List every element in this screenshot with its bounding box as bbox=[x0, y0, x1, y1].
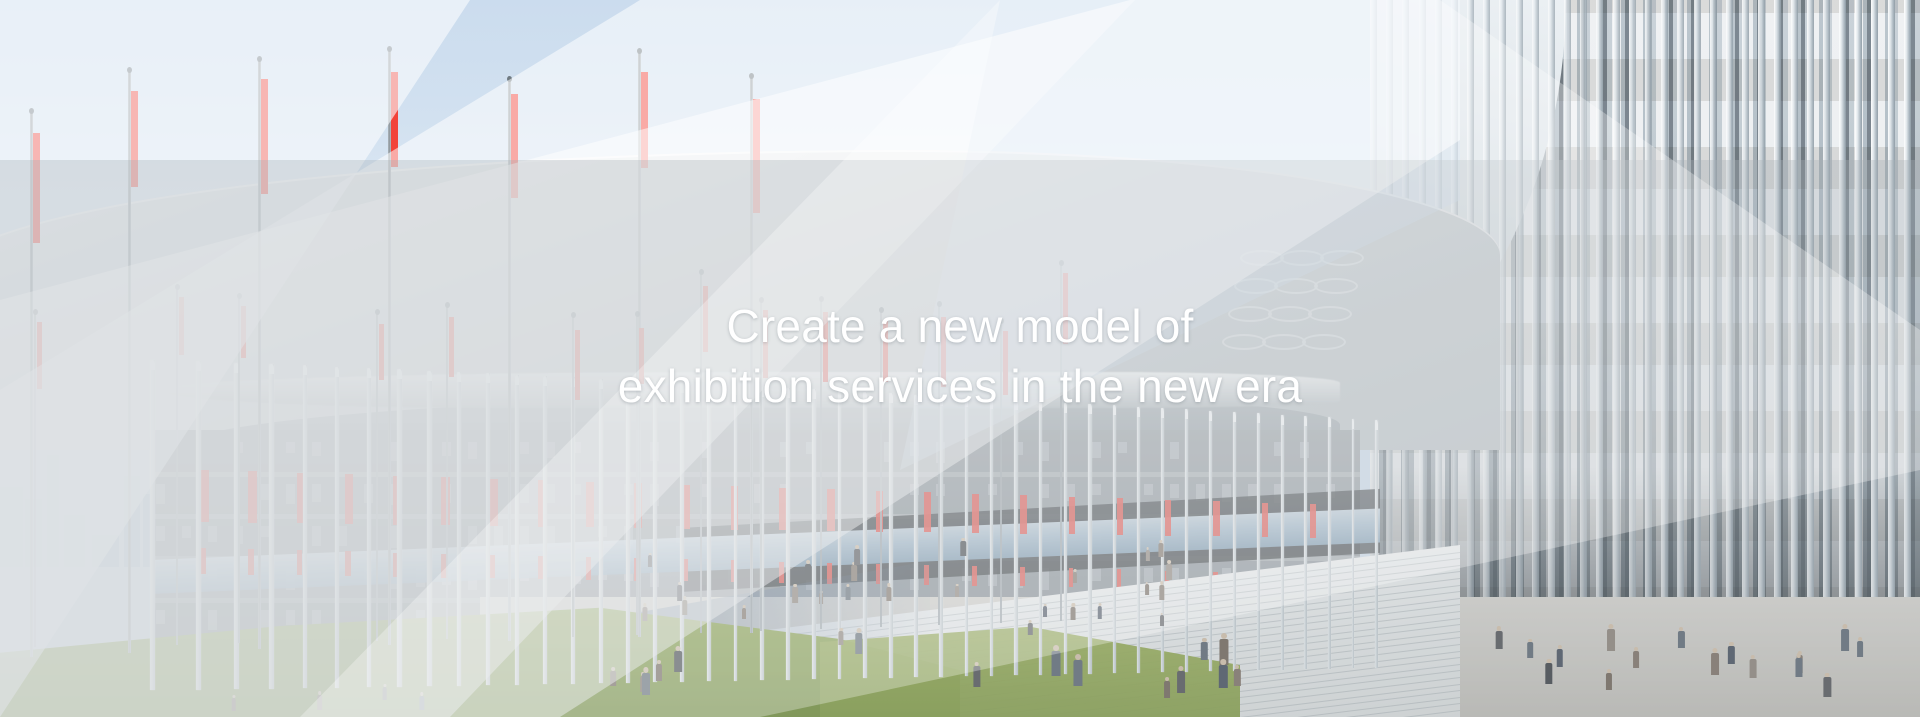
visitor bbox=[1073, 654, 1083, 685]
visitor bbox=[1795, 653, 1803, 677]
facade-window bbox=[1092, 484, 1101, 495]
facade-fin bbox=[1375, 420, 1378, 668]
visitor-body bbox=[852, 565, 858, 581]
facade-window bbox=[312, 442, 321, 456]
canopy-oval bbox=[1320, 250, 1364, 266]
flagpole-finial bbox=[637, 48, 642, 54]
visitor-body bbox=[682, 600, 687, 615]
visitor-body bbox=[1160, 615, 1164, 626]
facade-window bbox=[156, 610, 165, 624]
visitor bbox=[1711, 648, 1720, 675]
red-banner bbox=[972, 494, 979, 533]
visitor bbox=[1527, 639, 1533, 658]
visitor-body bbox=[1201, 642, 1207, 660]
visitor-body bbox=[1795, 658, 1802, 678]
facade-fin bbox=[1014, 400, 1017, 675]
facade-window bbox=[156, 526, 165, 541]
visitor bbox=[1160, 613, 1164, 627]
facade-window bbox=[208, 526, 217, 542]
facade-fin bbox=[515, 375, 519, 685]
canopy-oval bbox=[1274, 278, 1318, 294]
facade-window bbox=[520, 484, 529, 503]
visitor bbox=[886, 583, 892, 601]
facade-window bbox=[286, 610, 295, 625]
canopy-oval bbox=[1234, 278, 1278, 294]
skyline-building bbox=[92, 535, 119, 567]
visitor bbox=[1857, 637, 1863, 657]
visitor-body bbox=[656, 664, 662, 681]
visitor bbox=[1841, 624, 1850, 651]
visitor bbox=[1633, 647, 1639, 667]
flagpole-finial bbox=[699, 269, 704, 275]
visitor-body bbox=[1219, 665, 1227, 688]
facade-fin bbox=[1257, 413, 1260, 670]
visitor bbox=[855, 628, 863, 654]
visitor-body bbox=[1159, 585, 1164, 600]
visitor bbox=[973, 662, 981, 687]
facade-fin bbox=[427, 371, 431, 686]
visitor bbox=[854, 545, 860, 565]
visitor-body bbox=[839, 631, 844, 645]
skyline-building bbox=[64, 515, 85, 567]
facade-fin bbox=[486, 373, 490, 685]
visitor-body bbox=[419, 696, 424, 711]
visitor bbox=[1728, 642, 1735, 664]
visitor bbox=[1164, 677, 1170, 697]
visitor bbox=[1051, 645, 1061, 676]
visitor-body bbox=[973, 666, 980, 686]
visitor bbox=[846, 584, 851, 601]
canopy-oval bbox=[1314, 278, 1358, 294]
visitor-body bbox=[1749, 659, 1756, 678]
facade-fin bbox=[812, 389, 816, 679]
red-banner bbox=[1020, 495, 1027, 534]
flagpole-finial bbox=[29, 108, 34, 114]
flagpole-finial bbox=[387, 46, 392, 52]
visitor-body bbox=[1496, 631, 1503, 650]
red-banner bbox=[200, 470, 209, 522]
visitor bbox=[642, 603, 648, 620]
visitor bbox=[648, 553, 652, 567]
visitor bbox=[1545, 659, 1553, 684]
facade-window bbox=[1092, 568, 1101, 581]
visitor bbox=[1073, 569, 1078, 583]
visitor bbox=[1201, 638, 1208, 660]
flagpole-banner bbox=[33, 133, 40, 243]
visitor-body bbox=[805, 564, 811, 580]
facade-window bbox=[520, 442, 529, 454]
visitor-body bbox=[1678, 631, 1684, 648]
red-banner bbox=[490, 479, 498, 526]
visitor-body bbox=[1145, 584, 1149, 595]
facade-window bbox=[260, 610, 269, 628]
facade-fin bbox=[1304, 416, 1307, 669]
facade-window bbox=[494, 526, 503, 546]
visitor-body bbox=[886, 587, 891, 602]
facade-window bbox=[1170, 442, 1179, 459]
flagpole-finial bbox=[507, 76, 512, 82]
canopy-oval bbox=[1280, 250, 1324, 266]
facade-window bbox=[546, 442, 555, 458]
visitor-body bbox=[1159, 543, 1164, 557]
visitor bbox=[1166, 560, 1172, 580]
visitor bbox=[231, 695, 236, 711]
visitor-body bbox=[611, 671, 617, 687]
visitor bbox=[1749, 655, 1756, 679]
facade-fin bbox=[786, 388, 790, 680]
facade-fin bbox=[1209, 411, 1212, 672]
facade-window bbox=[286, 442, 295, 453]
headline-line-1: Create a new model of bbox=[0, 296, 1920, 356]
facade-window bbox=[312, 484, 321, 502]
facade-window bbox=[1144, 484, 1153, 495]
red-banner bbox=[490, 555, 495, 579]
visitor-body bbox=[742, 608, 746, 619]
headline-line-2: exhibition services in the new era bbox=[0, 356, 1920, 416]
visitor bbox=[674, 646, 682, 672]
red-banner bbox=[1020, 567, 1024, 586]
flagpole-banner bbox=[511, 94, 518, 198]
visitor-body bbox=[1043, 606, 1047, 617]
flagpole-banner bbox=[261, 79, 268, 194]
facade-fin bbox=[889, 393, 893, 677]
visitor-body bbox=[1071, 607, 1076, 621]
red-banner bbox=[827, 489, 834, 531]
visitor bbox=[955, 584, 959, 598]
visitor-body bbox=[955, 586, 959, 597]
visitor bbox=[1495, 626, 1502, 649]
facade-fin bbox=[990, 399, 993, 676]
visitor-body bbox=[1841, 629, 1849, 651]
canopy-oval bbox=[1240, 250, 1284, 266]
facade-window bbox=[260, 526, 269, 537]
visitor-body bbox=[1177, 671, 1185, 693]
visitor-body bbox=[642, 673, 650, 695]
visitor-body bbox=[846, 587, 851, 601]
red-banner bbox=[586, 482, 594, 528]
facade-fin bbox=[457, 372, 461, 686]
flagpole-finial bbox=[1059, 260, 1064, 266]
facade-floor-band bbox=[150, 472, 1360, 477]
visitor bbox=[742, 605, 746, 619]
visitor-body bbox=[854, 549, 860, 565]
visitor-body bbox=[648, 555, 652, 566]
facade-fin bbox=[1185, 409, 1188, 672]
red-banner bbox=[200, 548, 206, 574]
red-banner bbox=[779, 562, 784, 583]
visitor-body bbox=[855, 633, 862, 654]
facade-fin bbox=[680, 383, 684, 682]
facade-fin bbox=[863, 392, 867, 678]
facade-window bbox=[208, 610, 217, 630]
banner-headline: Create a new model of exhibition service… bbox=[0, 296, 1920, 416]
visitor bbox=[655, 660, 662, 681]
visitor-body bbox=[1028, 623, 1032, 635]
facade-fin bbox=[1137, 407, 1140, 673]
facade-window bbox=[468, 442, 477, 459]
visitor bbox=[960, 538, 966, 557]
hero-banner: Create a new model of exhibition service… bbox=[0, 0, 1920, 717]
visitor bbox=[792, 584, 798, 604]
visitor bbox=[382, 684, 387, 700]
red-banner bbox=[1069, 497, 1076, 535]
visitor bbox=[1605, 669, 1612, 690]
visitor-body bbox=[382, 687, 387, 700]
visitor bbox=[1219, 659, 1228, 688]
facade-fin bbox=[1039, 401, 1042, 675]
facade-fin bbox=[914, 395, 918, 678]
red-banner bbox=[345, 551, 351, 576]
visitor bbox=[1177, 666, 1186, 693]
visitor-body bbox=[1167, 564, 1173, 580]
facade-fin bbox=[626, 380, 630, 683]
flagpole-banner bbox=[641, 72, 648, 169]
facade-fin bbox=[599, 379, 603, 683]
red-banner bbox=[924, 492, 931, 532]
visitor bbox=[610, 667, 616, 686]
visitor-body bbox=[961, 541, 966, 556]
visitor bbox=[1145, 547, 1150, 562]
facade-fin bbox=[1088, 404, 1091, 674]
flagpole-finial bbox=[749, 73, 754, 79]
skyline-building bbox=[0, 487, 23, 567]
visitor-body bbox=[1234, 669, 1240, 686]
visitor bbox=[682, 596, 688, 615]
visitor bbox=[1607, 624, 1616, 651]
flagpole-banner bbox=[391, 72, 398, 167]
visitor bbox=[1097, 603, 1102, 618]
visitor-body bbox=[1824, 677, 1831, 697]
red-banner bbox=[1262, 503, 1268, 538]
visitor bbox=[838, 628, 844, 646]
visitor-body bbox=[1633, 651, 1639, 667]
visitor-body bbox=[1556, 649, 1563, 667]
facade-fin bbox=[653, 381, 657, 682]
visitor bbox=[1159, 581, 1165, 599]
visitor-body bbox=[1164, 681, 1170, 697]
red-banner bbox=[248, 471, 257, 522]
visitor bbox=[1556, 645, 1563, 667]
red-banner bbox=[1117, 569, 1121, 587]
facade-window bbox=[182, 526, 191, 538]
visitor bbox=[1145, 582, 1149, 595]
facade-window bbox=[312, 526, 321, 546]
facade-fin bbox=[1328, 417, 1331, 669]
facade-window bbox=[260, 484, 269, 500]
visitor-body bbox=[1074, 660, 1083, 685]
facade-fin bbox=[1352, 419, 1355, 669]
visitor-body bbox=[231, 698, 236, 711]
visitor bbox=[805, 560, 811, 580]
skyline-building bbox=[124, 476, 140, 567]
visitor-body bbox=[1052, 651, 1061, 676]
facade-window bbox=[468, 526, 477, 544]
visitor bbox=[317, 691, 323, 710]
facade-window bbox=[1144, 568, 1153, 582]
facade-window bbox=[1118, 442, 1127, 453]
red-banner bbox=[1310, 504, 1316, 538]
visitor-body bbox=[1607, 629, 1615, 651]
facade-window bbox=[546, 484, 555, 503]
red-banner bbox=[972, 566, 977, 586]
facade-fin bbox=[1281, 415, 1284, 670]
visitor bbox=[1823, 673, 1831, 698]
visitor bbox=[1234, 665, 1241, 687]
visitor bbox=[1158, 540, 1164, 558]
facade-window bbox=[1092, 442, 1101, 458]
visitor-body bbox=[792, 587, 798, 603]
facade-fin bbox=[707, 384, 711, 681]
visitor bbox=[1678, 627, 1685, 648]
red-banner bbox=[248, 549, 254, 575]
red-banner bbox=[586, 557, 591, 580]
visitor bbox=[1028, 620, 1033, 635]
visitor-body bbox=[317, 695, 323, 710]
facade-window bbox=[1170, 484, 1179, 498]
facade-fin bbox=[543, 376, 547, 684]
visitor-body bbox=[674, 651, 682, 672]
flagpole-banner bbox=[131, 91, 138, 187]
facade-window bbox=[286, 484, 295, 504]
red-banner bbox=[1165, 500, 1171, 536]
visitor-body bbox=[1073, 572, 1077, 584]
flagpole-banner bbox=[753, 99, 760, 213]
flagpole-finial bbox=[175, 284, 180, 290]
facade-fin bbox=[734, 385, 738, 680]
visitor-body bbox=[1606, 673, 1612, 690]
visitor-body bbox=[1146, 550, 1150, 562]
skyline-building bbox=[47, 455, 59, 567]
visitor-body bbox=[1711, 653, 1719, 675]
facade-window bbox=[156, 484, 165, 504]
visitor bbox=[1071, 603, 1076, 620]
facade-fin bbox=[397, 369, 401, 686]
red-banner bbox=[1117, 498, 1123, 535]
facade-fin bbox=[1233, 412, 1236, 671]
visitor bbox=[419, 692, 425, 710]
facade-fin bbox=[1064, 403, 1067, 675]
visitor bbox=[1043, 604, 1047, 618]
red-banner bbox=[345, 474, 354, 524]
visitor-body bbox=[1528, 642, 1534, 658]
visitor-body bbox=[1857, 641, 1863, 657]
facade-fin bbox=[1113, 405, 1116, 673]
visitor-body bbox=[1545, 663, 1552, 684]
visitor-body bbox=[1098, 606, 1102, 618]
visitor-body bbox=[642, 607, 647, 621]
red-banner bbox=[1213, 501, 1219, 536]
visitor bbox=[641, 667, 650, 694]
red-banner bbox=[297, 550, 303, 575]
visitor-body bbox=[1728, 646, 1734, 664]
